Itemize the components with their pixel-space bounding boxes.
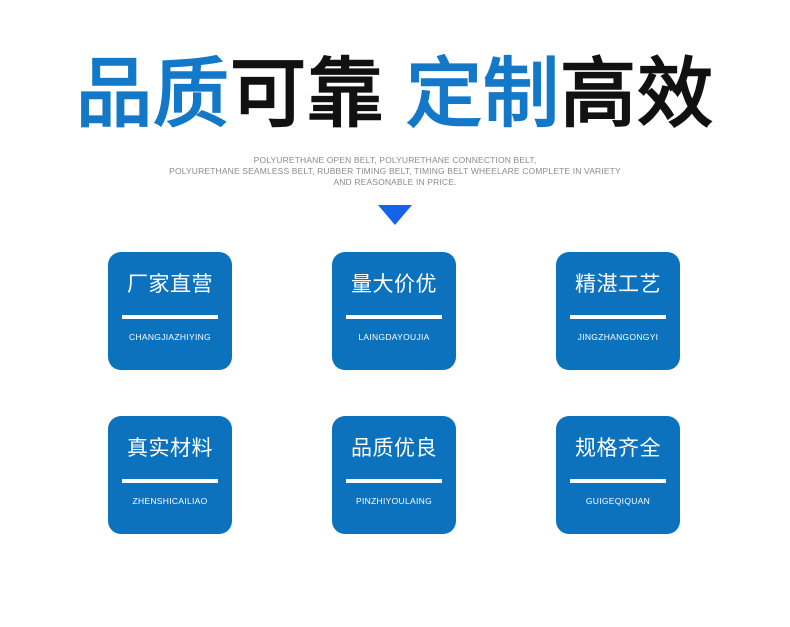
headline-segment-3: 定制	[406, 49, 560, 138]
feature-card[interactable]: 规格齐全 GUIGEQIQUAN	[556, 416, 680, 534]
feature-card-title: 真实材料	[127, 438, 213, 459]
feature-card-divider	[570, 315, 666, 319]
subtitle-block: POLYURETHANE OPEN BELT, POLYURETHANE CON…	[0, 155, 790, 188]
headline-segment-2: 可靠	[230, 49, 384, 138]
feature-card-pinyin: JINGZHANGONGYI	[578, 332, 659, 342]
feature-card-title: 厂家直营	[127, 274, 213, 295]
arrow-container	[0, 205, 790, 225]
feature-card-divider	[570, 479, 666, 483]
triangle-down-icon	[378, 205, 412, 225]
headline-segment-1: 品质	[76, 49, 230, 138]
feature-card-title: 量大价优	[351, 274, 437, 295]
headline-segment-4: 高效	[560, 49, 714, 138]
feature-card[interactable]: 量大价优 LAINGDAYOUJIA	[332, 252, 456, 370]
feature-card-pinyin: CHANGJIAZHIYING	[129, 332, 211, 342]
feature-card-title: 精湛工艺	[575, 274, 661, 295]
feature-card[interactable]: 品质优良 PINZHIYOULAING	[332, 416, 456, 534]
feature-card-divider	[346, 479, 442, 483]
feature-card-pinyin: GUIGEQIQUAN	[586, 496, 650, 506]
feature-card-divider	[122, 315, 218, 319]
subtitle-line-2: POLYURETHANE SEAMLESS BELT, RUBBER TIMIN…	[0, 166, 790, 177]
feature-card-title: 品质优良	[351, 438, 437, 459]
feature-card-pinyin: PINZHIYOULAING	[356, 496, 432, 506]
feature-card-title: 规格齐全	[575, 438, 661, 459]
page-title: 品质可靠定制高效	[0, 56, 790, 132]
feature-card-pinyin: LAINGDAYOUJIA	[358, 332, 429, 342]
feature-card[interactable]: 精湛工艺 JINGZHANGONGYI	[556, 252, 680, 370]
feature-card-grid: 厂家直营 CHANGJIAZHIYING 量大价优 LAINGDAYOUJIA …	[108, 252, 683, 534]
feature-card[interactable]: 真实材料 ZHENSHICAILIAO	[108, 416, 232, 534]
feature-card-pinyin: ZHENSHICAILIAO	[132, 496, 207, 506]
promo-banner: 品质可靠定制高效 POLYURETHANE OPEN BELT, POLYURE…	[0, 0, 790, 627]
feature-card[interactable]: 厂家直营 CHANGJIAZHIYING	[108, 252, 232, 370]
subtitle-line-3: AND REASONABLE IN PRICE.	[0, 177, 790, 188]
feature-card-divider	[122, 479, 218, 483]
subtitle-line-1: POLYURETHANE OPEN BELT, POLYURETHANE CON…	[0, 155, 790, 166]
feature-card-divider	[346, 315, 442, 319]
